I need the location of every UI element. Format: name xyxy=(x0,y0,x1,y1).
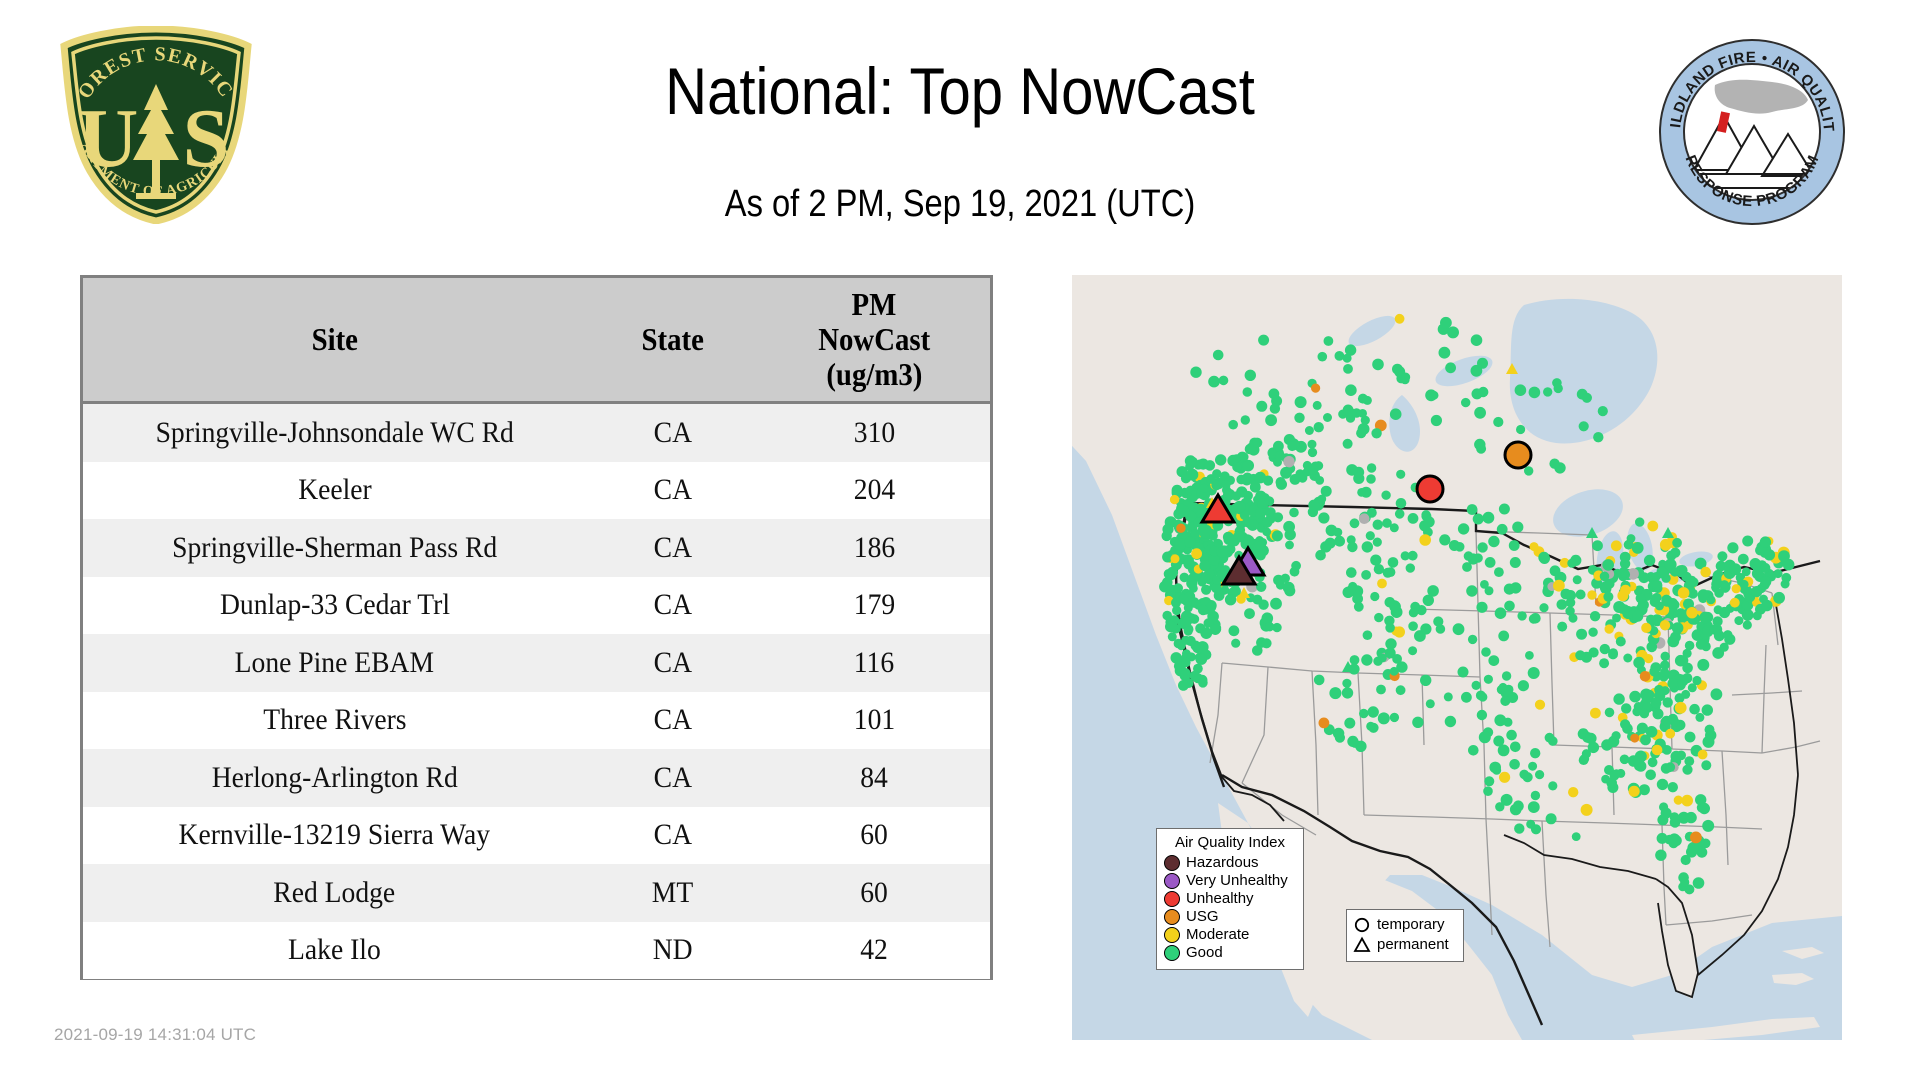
monitor-dot[interactable] xyxy=(1315,476,1324,485)
monitor-dot[interactable] xyxy=(1605,708,1615,718)
monitor-dot[interactable] xyxy=(1498,745,1510,757)
table-row[interactable]: Springville-Sherman Pass RdCA186 xyxy=(83,519,990,577)
monitor-dot[interactable] xyxy=(1647,521,1658,532)
monitor-dot[interactable] xyxy=(1506,730,1517,741)
monitor-dot[interactable] xyxy=(1657,567,1668,578)
monitor-dot[interactable] xyxy=(1774,569,1783,578)
monitor-dot[interactable] xyxy=(1684,756,1694,766)
monitor-dot[interactable] xyxy=(1458,523,1469,534)
monitor-dot[interactable] xyxy=(1358,394,1368,404)
monitor-dot[interactable] xyxy=(1493,417,1503,427)
table-row[interactable]: KeelerCA204 xyxy=(83,462,990,520)
monitor-dot[interactable] xyxy=(1261,638,1271,648)
monitor-dot[interactable] xyxy=(1199,528,1210,539)
monitor-dot[interactable] xyxy=(1702,820,1714,832)
monitor-dot[interactable] xyxy=(1751,586,1762,597)
monitor-dot[interactable] xyxy=(1178,594,1188,604)
monitor-dot[interactable] xyxy=(1530,613,1541,624)
monitor-dot[interactable] xyxy=(1243,387,1253,397)
monitor-dot[interactable] xyxy=(1439,534,1450,545)
monitor-dot[interactable] xyxy=(1231,639,1240,648)
monitor-dot[interactable] xyxy=(1499,683,1508,692)
monitor-dot[interactable] xyxy=(1213,350,1224,361)
monitor-dot[interactable] xyxy=(1455,542,1465,552)
monitor-dot[interactable] xyxy=(1740,580,1749,589)
monitor-dot[interactable] xyxy=(1433,616,1443,626)
monitor-dot[interactable] xyxy=(1687,842,1699,854)
monitor-dot[interactable] xyxy=(1514,823,1524,833)
monitor-dot[interactable] xyxy=(1729,563,1741,575)
monitor-dot[interactable] xyxy=(1524,466,1533,475)
monitor-dot[interactable] xyxy=(1291,561,1301,571)
monitor-dot[interactable] xyxy=(1390,713,1399,722)
monitor-dot[interactable] xyxy=(1703,736,1715,748)
monitor-dot[interactable] xyxy=(1381,491,1390,500)
monitor-dot[interactable] xyxy=(1661,808,1672,819)
monitor-dot[interactable] xyxy=(1665,762,1675,772)
monitor-dot[interactable] xyxy=(1168,632,1177,641)
monitor-dot[interactable] xyxy=(1519,770,1529,780)
monitor-dot[interactable] xyxy=(1408,621,1418,631)
monitor-dot[interactable] xyxy=(1685,732,1696,743)
table-row[interactable]: Kernville-13219 Sierra WayCA60 xyxy=(83,807,990,865)
monitor-dot[interactable] xyxy=(1598,406,1608,416)
monitor-dot[interactable] xyxy=(1222,480,1231,489)
monitor-dot[interactable] xyxy=(1479,731,1491,743)
monitor-dot[interactable] xyxy=(1535,700,1545,710)
monitor-dot[interactable] xyxy=(1318,352,1328,362)
monitor-dot[interactable] xyxy=(1610,771,1620,781)
monitor-dot[interactable] xyxy=(1699,612,1711,624)
monitor-dot[interactable] xyxy=(1315,550,1326,561)
monitor-dot[interactable] xyxy=(1272,530,1283,541)
monitor-dot[interactable] xyxy=(1640,709,1650,719)
monitor-dot[interactable] xyxy=(1734,616,1743,625)
highlighted-monitor-marker[interactable] xyxy=(1417,476,1443,502)
monitor-dot[interactable] xyxy=(1401,373,1410,382)
monitor-dot[interactable] xyxy=(1308,500,1319,511)
monitor-dot[interactable] xyxy=(1481,647,1491,657)
monitor-dot[interactable] xyxy=(1612,731,1621,740)
monitor-dot[interactable] xyxy=(1347,542,1357,552)
monitor-dot[interactable] xyxy=(1342,679,1351,688)
monitor-dot[interactable] xyxy=(1420,675,1431,686)
monitor-dot[interactable] xyxy=(1408,513,1419,524)
monitor-dot[interactable] xyxy=(1440,317,1452,329)
monitor-dot[interactable] xyxy=(1670,548,1680,558)
monitor-dot[interactable] xyxy=(1357,488,1366,497)
monitor-dot[interactable] xyxy=(1530,748,1540,758)
monitor-dot[interactable] xyxy=(1492,766,1501,775)
monitor-dot[interactable] xyxy=(1474,407,1486,419)
monitor-dot[interactable] xyxy=(1187,469,1199,481)
monitor-dot[interactable] xyxy=(1670,568,1679,577)
monitor-dot[interactable] xyxy=(1346,567,1357,578)
column-header-state[interactable]: State xyxy=(586,278,758,403)
monitor-dot[interactable] xyxy=(1256,401,1267,412)
monitor-dot[interactable] xyxy=(1386,567,1396,577)
monitor-dot[interactable] xyxy=(1550,565,1561,576)
column-header-pm-nowcast[interactable]: PM NowCast (ug/m3) xyxy=(759,278,990,403)
monitor-dot[interactable] xyxy=(1346,464,1358,476)
monitor-dot[interactable] xyxy=(1273,441,1284,452)
column-header-site[interactable]: Site xyxy=(83,278,586,403)
monitor-dot[interactable] xyxy=(1624,540,1634,550)
monitor-dot[interactable] xyxy=(1652,593,1662,603)
monitor-dot[interactable] xyxy=(1385,623,1395,633)
monitor-dot[interactable] xyxy=(1372,359,1384,371)
monitor-dot[interactable] xyxy=(1171,554,1180,563)
monitor-dot[interactable] xyxy=(1389,600,1399,610)
monitor-dot[interactable] xyxy=(1395,314,1405,324)
monitor-dot[interactable] xyxy=(1648,757,1658,767)
monitor-dot[interactable] xyxy=(1373,657,1382,666)
monitor-dot[interactable] xyxy=(1667,598,1678,609)
monitor-dot[interactable] xyxy=(1232,491,1241,500)
monitor-dot[interactable] xyxy=(1477,542,1487,552)
monitor-dot[interactable] xyxy=(1649,666,1659,676)
monitor-dot[interactable] xyxy=(1269,388,1280,399)
monitor-dot[interactable] xyxy=(1612,614,1621,623)
monitor-dot[interactable] xyxy=(1225,594,1236,605)
monitor-dot[interactable] xyxy=(1176,524,1185,533)
monitor-dot[interactable] xyxy=(1764,549,1775,560)
monitor-dot[interactable] xyxy=(1646,615,1656,625)
monitor-dot[interactable] xyxy=(1256,582,1266,592)
monitor-dot[interactable] xyxy=(1356,428,1366,438)
monitor-dot[interactable] xyxy=(1602,559,1614,571)
monitor-dot[interactable] xyxy=(1467,504,1478,515)
monitor-dot[interactable] xyxy=(1439,347,1451,359)
monitor-dot[interactable] xyxy=(1311,384,1320,393)
monitor-dot[interactable] xyxy=(1473,514,1484,525)
monitor-dot[interactable] xyxy=(1692,676,1701,685)
monitor-dot[interactable] xyxy=(1742,536,1753,547)
monitor-dot[interactable] xyxy=(1530,542,1539,551)
monitor-dot[interactable] xyxy=(1761,600,1773,612)
monitor-dot[interactable] xyxy=(1255,539,1266,550)
monitor-dot[interactable] xyxy=(1500,696,1510,706)
monitor-dot[interactable] xyxy=(1645,770,1656,781)
monitor-dot[interactable] xyxy=(1773,592,1785,604)
monitor-dot[interactable] xyxy=(1283,521,1295,533)
monitor-dot[interactable] xyxy=(1409,608,1418,617)
monitor-dot[interactable] xyxy=(1461,398,1470,407)
monitor-dot[interactable] xyxy=(1548,736,1558,746)
monitor-dot[interactable] xyxy=(1245,370,1256,381)
monitor-dot[interactable] xyxy=(1361,570,1371,580)
monitor-dot[interactable] xyxy=(1630,734,1639,743)
monitor-dot[interactable] xyxy=(1472,681,1481,690)
monitor-dot[interactable] xyxy=(1539,553,1550,564)
monitor-dot[interactable] xyxy=(1184,537,1195,548)
table-row[interactable]: Lake IloND42 xyxy=(83,922,990,980)
monitor-dot[interactable] xyxy=(1241,415,1250,424)
monitor-dot[interactable] xyxy=(1641,623,1651,633)
monitor-dot[interactable] xyxy=(1347,585,1356,594)
monitor-dot[interactable] xyxy=(1499,772,1510,783)
monitor-dot[interactable] xyxy=(1366,474,1376,484)
monitor-dot[interactable] xyxy=(1445,716,1456,727)
monitor-dot[interactable] xyxy=(1622,723,1633,734)
monitor-dot[interactable] xyxy=(1529,387,1541,399)
monitor-dot[interactable] xyxy=(1568,787,1578,797)
monitor-dot[interactable] xyxy=(1313,401,1322,410)
monitor-dot[interactable] xyxy=(1408,646,1417,655)
monitor-dot[interactable] xyxy=(1695,713,1704,722)
monitor-dot[interactable] xyxy=(1388,557,1399,568)
monitor-dot[interactable] xyxy=(1344,718,1355,729)
monitor-dot[interactable] xyxy=(1510,742,1521,753)
monitor-dot[interactable] xyxy=(1215,454,1226,465)
monitor-dot[interactable] xyxy=(1681,795,1693,807)
monitor-dot[interactable] xyxy=(1661,716,1672,727)
monitor-dot[interactable] xyxy=(1575,650,1585,660)
monitor-dot[interactable] xyxy=(1548,781,1557,790)
monitor-dot[interactable] xyxy=(1390,408,1402,420)
monitor-dot[interactable] xyxy=(1717,551,1727,561)
monitor-dot[interactable] xyxy=(1426,699,1435,708)
monitor-dot[interactable] xyxy=(1576,590,1586,600)
monitor-dot[interactable] xyxy=(1287,441,1297,451)
monitor-dot[interactable] xyxy=(1305,426,1314,435)
monitor-dot[interactable] xyxy=(1565,590,1576,601)
monitor-dot[interactable] xyxy=(1180,573,1190,583)
monitor-dot[interactable] xyxy=(1742,567,1751,576)
monitor-dot[interactable] xyxy=(1265,622,1274,631)
monitor-dot[interactable] xyxy=(1172,485,1183,496)
monitor-dot[interactable] xyxy=(1593,432,1603,442)
monitor-dot[interactable] xyxy=(1343,354,1352,363)
monitor-dot[interactable] xyxy=(1276,477,1286,487)
monitor-dot[interactable] xyxy=(1513,800,1523,810)
monitor-dot[interactable] xyxy=(1366,531,1375,540)
monitor-dot[interactable] xyxy=(1392,654,1402,664)
monitor-dot[interactable] xyxy=(1190,367,1201,378)
monitor-dot[interactable] xyxy=(1488,536,1499,547)
monitor-dot[interactable] xyxy=(1480,580,1489,589)
monitor-dot[interactable] xyxy=(1283,582,1295,594)
monitor-dot[interactable] xyxy=(1412,717,1423,728)
monitor-dot[interactable] xyxy=(1385,638,1396,649)
monitor-dot[interactable] xyxy=(1217,547,1228,558)
monitor-dot[interactable] xyxy=(1211,480,1221,490)
monitor-dot[interactable] xyxy=(1396,498,1407,509)
monitor-dot[interactable] xyxy=(1590,708,1601,719)
monitor-dot[interactable] xyxy=(1661,652,1670,661)
monitor-dot[interactable] xyxy=(1390,523,1399,532)
monitor-dot[interactable] xyxy=(1343,439,1353,449)
monitor-dot[interactable] xyxy=(1738,554,1749,565)
monitor-dot[interactable] xyxy=(1464,551,1474,561)
monitor-dot[interactable] xyxy=(1743,620,1752,629)
monitor-dot[interactable] xyxy=(1592,540,1603,551)
monitor-dot[interactable] xyxy=(1334,536,1345,547)
monitor-dot[interactable] xyxy=(1640,671,1651,682)
monitor-dot[interactable] xyxy=(1509,759,1520,770)
monitor-dot[interactable] xyxy=(1682,765,1692,775)
monitor-dot[interactable] xyxy=(1285,541,1294,550)
monitor-dot[interactable] xyxy=(1471,334,1483,346)
monitor-dot[interactable] xyxy=(1714,605,1723,614)
monitor-dot[interactable] xyxy=(1760,576,1771,587)
monitor-dot[interactable] xyxy=(1528,762,1537,771)
monitor-dot[interactable] xyxy=(1265,414,1277,426)
monitor-dot[interactable] xyxy=(1474,439,1485,450)
monitor-dot[interactable] xyxy=(1685,641,1695,651)
monitor-dot[interactable] xyxy=(1173,583,1183,593)
monitor-dot[interactable] xyxy=(1181,636,1190,645)
monitor-dot[interactable] xyxy=(1668,782,1678,792)
monitor-dot[interactable] xyxy=(1778,550,1790,562)
monitor-dot[interactable] xyxy=(1453,623,1465,635)
monitor-dot[interactable] xyxy=(1425,389,1437,401)
monitor-dot[interactable] xyxy=(1477,358,1488,369)
monitor-dot[interactable] xyxy=(1603,592,1613,602)
monitor-dot[interactable] xyxy=(1504,601,1515,612)
monitor-dot[interactable] xyxy=(1461,692,1472,703)
monitor-dot[interactable] xyxy=(1190,671,1200,681)
monitor-dot[interactable] xyxy=(1280,467,1292,479)
monitor-dot[interactable] xyxy=(1366,722,1375,731)
monitor-dot[interactable] xyxy=(1423,516,1434,527)
monitor-dot[interactable] xyxy=(1652,745,1663,756)
monitor-dot[interactable] xyxy=(1621,570,1630,579)
monitor-dot[interactable] xyxy=(1539,603,1548,612)
monitor-dot[interactable] xyxy=(1670,817,1681,828)
monitor-dot[interactable] xyxy=(1208,376,1220,388)
monitor-dot[interactable] xyxy=(1569,614,1578,623)
monitor-dot[interactable] xyxy=(1678,587,1690,599)
monitor-dot[interactable] xyxy=(1273,512,1283,522)
monitor-dot[interactable] xyxy=(1212,469,1221,478)
monitor-dot[interactable] xyxy=(1576,629,1587,640)
monitor-dot[interactable] xyxy=(1657,779,1668,790)
monitor-dot[interactable] xyxy=(1199,484,1208,493)
monitor-dot[interactable] xyxy=(1323,413,1332,422)
monitor-dot[interactable] xyxy=(1354,602,1364,612)
monitor-dot[interactable] xyxy=(1636,593,1646,603)
monitor-dot[interactable] xyxy=(1198,678,1208,688)
monitor-dot[interactable] xyxy=(1781,573,1791,583)
monitor-dot[interactable] xyxy=(1165,621,1176,632)
monitor-dot[interactable] xyxy=(1408,551,1418,561)
monitor-dot[interactable] xyxy=(1711,688,1723,700)
monitor-dot[interactable] xyxy=(1308,448,1317,457)
monitor-dot[interactable] xyxy=(1494,567,1504,577)
monitor-dot[interactable] xyxy=(1685,812,1696,823)
monitor-dot[interactable] xyxy=(1234,501,1246,513)
table-row[interactable]: Springville-Johnsondale WC RdCA310 xyxy=(83,403,990,462)
monitor-dot[interactable] xyxy=(1188,573,1199,584)
monitor-dot[interactable] xyxy=(1623,654,1632,663)
monitor-dot[interactable] xyxy=(1270,403,1280,413)
monitor-dot[interactable] xyxy=(1699,803,1710,814)
monitor-dot[interactable] xyxy=(1345,384,1357,396)
monitor-dot[interactable] xyxy=(1671,835,1682,846)
monitor-dot[interactable] xyxy=(1621,703,1631,713)
table-row[interactable]: Red LodgeMT60 xyxy=(83,864,990,922)
monitor-dot[interactable] xyxy=(1374,564,1384,574)
monitor-dot[interactable] xyxy=(1494,714,1506,726)
monitor-dot[interactable] xyxy=(1254,472,1266,484)
monitor-dot[interactable] xyxy=(1588,628,1597,637)
monitor-dot[interactable] xyxy=(1495,607,1507,619)
monitor-dot[interactable] xyxy=(1184,627,1193,636)
monitor-dot[interactable] xyxy=(1599,658,1609,668)
monitor-dot[interactable] xyxy=(1499,504,1510,515)
monitor-dot[interactable] xyxy=(1509,540,1520,551)
monitor-dot[interactable] xyxy=(1732,584,1741,593)
monitor-dot[interactable] xyxy=(1580,754,1590,764)
monitor-dot[interactable] xyxy=(1335,733,1345,743)
monitor-dot[interactable] xyxy=(1620,755,1630,765)
monitor-dot[interactable] xyxy=(1750,558,1762,570)
monitor-dot[interactable] xyxy=(1510,557,1521,568)
monitor-dot[interactable] xyxy=(1681,690,1690,699)
monitor-dot[interactable] xyxy=(1308,440,1317,449)
monitor-dot[interactable] xyxy=(1723,630,1732,639)
monitor-dot[interactable] xyxy=(1229,625,1240,636)
monitor-dot[interactable] xyxy=(1501,794,1513,806)
monitor-dot[interactable] xyxy=(1262,517,1272,527)
monitor-dot[interactable] xyxy=(1672,622,1684,634)
table-row[interactable]: Three RiversCA101 xyxy=(83,692,990,750)
monitor-dot[interactable] xyxy=(1605,624,1614,633)
monitor-dot[interactable] xyxy=(1420,623,1431,634)
monitor-dot[interactable] xyxy=(1652,580,1662,590)
monitor-dot[interactable] xyxy=(1633,657,1645,669)
monitor-dot[interactable] xyxy=(1660,539,1672,551)
monitor-dot[interactable] xyxy=(1698,589,1710,601)
monitor-dot[interactable] xyxy=(1396,685,1406,695)
monitor-dot[interactable] xyxy=(1543,387,1552,396)
monitor-dot[interactable] xyxy=(1325,538,1336,549)
monitor-dot[interactable] xyxy=(1546,813,1557,824)
monitor-dot[interactable] xyxy=(1191,548,1202,559)
monitor-dot[interactable] xyxy=(1667,636,1679,648)
monitor-dot[interactable] xyxy=(1423,595,1434,606)
monitor-dot[interactable] xyxy=(1667,678,1678,689)
monitor-dot[interactable] xyxy=(1396,470,1405,479)
monitor-dot[interactable] xyxy=(1672,538,1682,548)
monitor-dot[interactable] xyxy=(1361,416,1370,425)
monitor-dot[interactable] xyxy=(1488,655,1499,666)
monitor-dot[interactable] xyxy=(1483,786,1493,796)
monitor-dot[interactable] xyxy=(1377,579,1387,589)
monitor-dot[interactable] xyxy=(1167,567,1178,578)
monitor-dot[interactable] xyxy=(1502,671,1511,680)
monitor-dot[interactable] xyxy=(1516,425,1525,434)
monitor-dot[interactable] xyxy=(1347,736,1358,747)
monitor-dot[interactable] xyxy=(1720,583,1730,593)
monitor-dot[interactable] xyxy=(1258,335,1269,346)
monitor-dot[interactable] xyxy=(1174,538,1186,550)
monitor-dot[interactable] xyxy=(1472,388,1483,399)
monitor-dot[interactable] xyxy=(1660,620,1670,630)
monitor-dot[interactable] xyxy=(1283,456,1294,467)
monitor-dot[interactable] xyxy=(1572,832,1581,841)
monitor-dot[interactable] xyxy=(1281,574,1290,583)
monitor-dot[interactable] xyxy=(1244,535,1255,546)
monitor-dot[interactable] xyxy=(1674,796,1683,805)
monitor-dot[interactable] xyxy=(1579,421,1589,431)
monitor-dot[interactable] xyxy=(1620,585,1631,596)
monitor-dot[interactable] xyxy=(1665,729,1675,739)
monitor-dot[interactable] xyxy=(1359,513,1370,524)
monitor-dot[interactable] xyxy=(1395,509,1405,519)
monitor-dot[interactable] xyxy=(1705,725,1715,735)
